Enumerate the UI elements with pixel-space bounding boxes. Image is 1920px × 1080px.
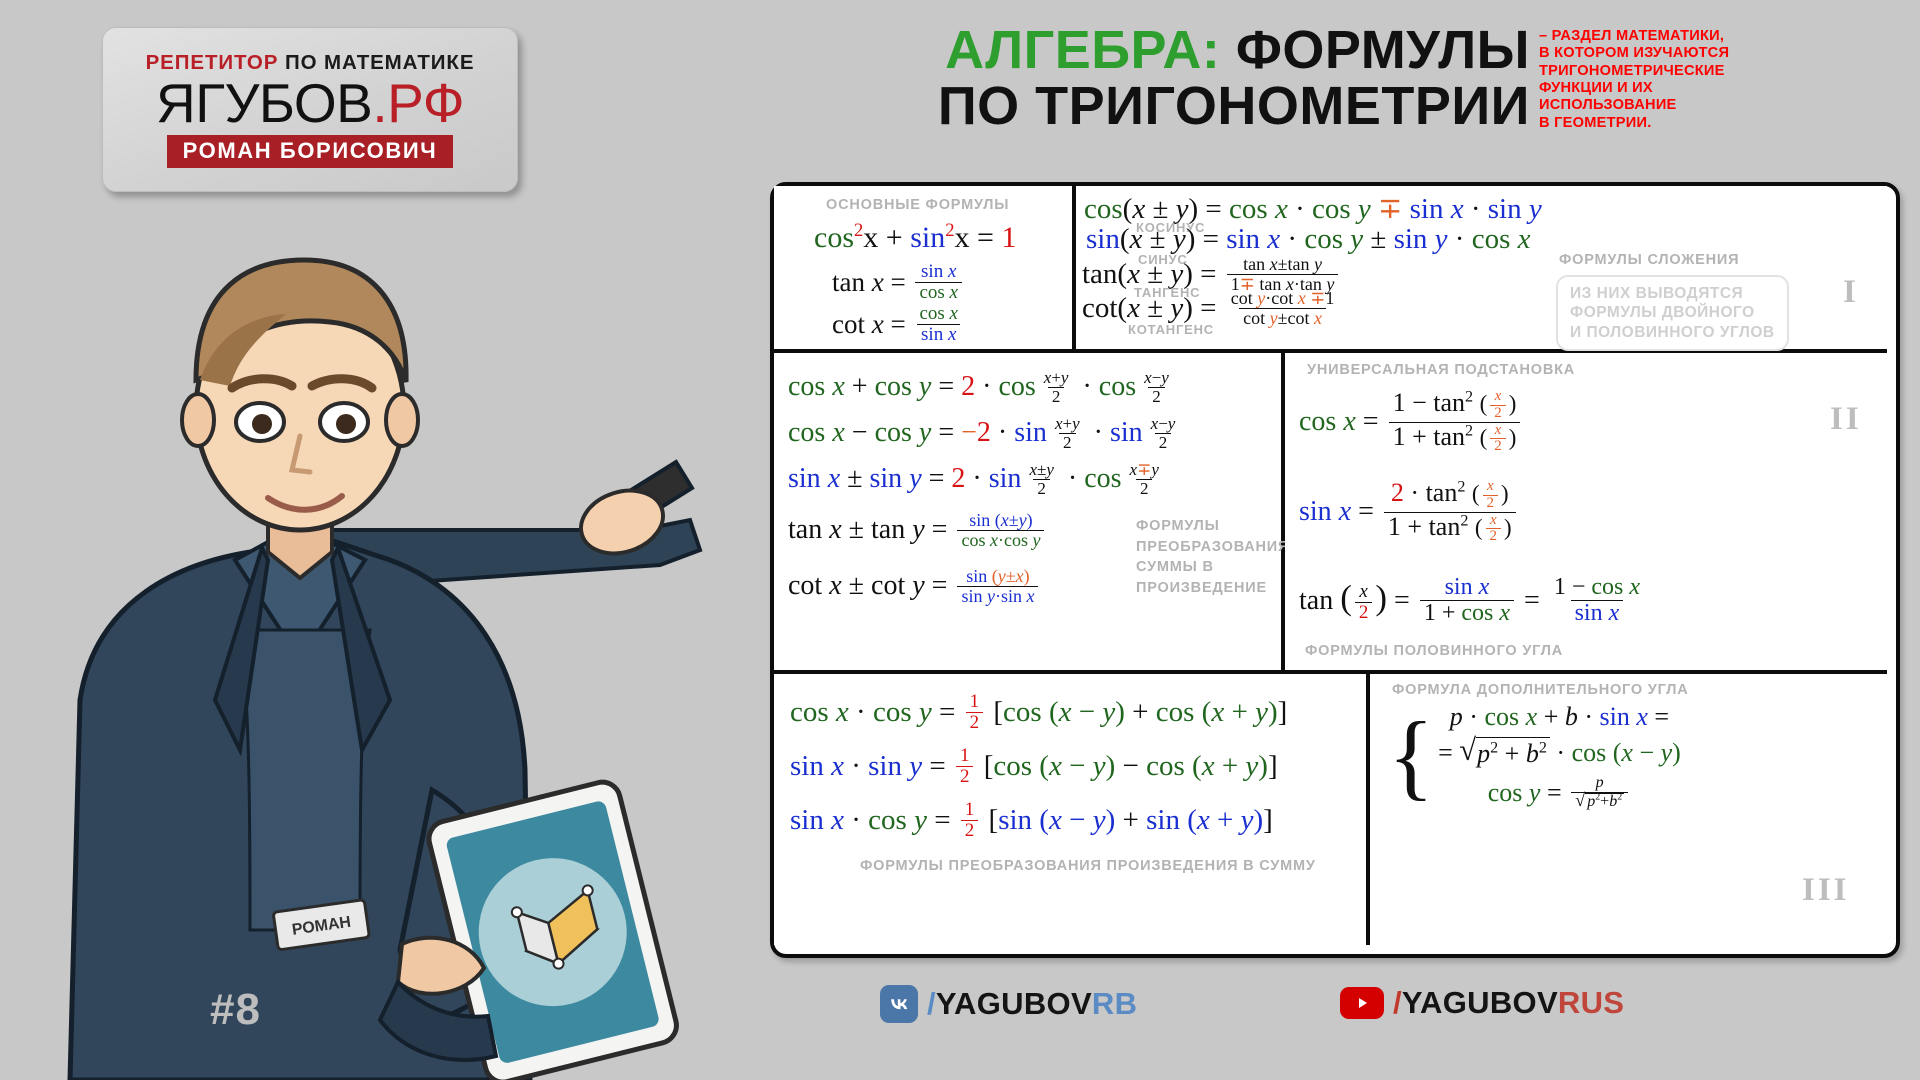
social-slash-vk: / [927, 986, 936, 1021]
social-handle-youtube: /YAGUBOVRUS [1393, 985, 1624, 1021]
logo-person-name: РОМАН БОРИСОВИЧ [167, 135, 454, 168]
social-links: /YAGUBOVRB /YAGUBOVRUS [880, 985, 1710, 1045]
subject-note-line: ФУНКЦИИ И ИХ [1539, 80, 1869, 97]
formula-sin-times-cos: sin x · cos y = 12 [sin (x − y) + sin (x… [790, 800, 1273, 841]
logo-domain-tld: РФ [387, 72, 464, 134]
caption-auxiliary-angle: ФОРМУЛА ДОПОЛНИТЕЛЬНОГО УГЛА [1392, 682, 1689, 698]
formula-tan-pm-tan: tan x ± tan y = sin (x±y) cos x·cos y [788, 511, 1047, 550]
poster-root: РЕПЕТИТОР ПО МАТЕМАТИКЕ ЯГУБОВ.РФ РОМАН … [0, 0, 1920, 1080]
section-numeral-2: II [1830, 401, 1862, 438]
subject-definition-note: – РАЗДЕЛ МАТЕМАТИКИ, В КОТОРОМ ИЗУЧАЮТСЯ… [1539, 28, 1869, 132]
logo-domain: ЯГУБОВ.РФ [156, 77, 464, 131]
logo-domain-name: ЯГУБОВ [156, 72, 372, 134]
formula-cos-plus-cos: cos x + cos y = 2 · cos x+y2 · cos x−y2 [788, 369, 1176, 406]
formula-cotangent-definition: cot x = cos x sin x [832, 304, 965, 345]
page-title-word: ФОРМУЛЫ [1220, 20, 1530, 80]
formula-auxiliary-angle-group: { p · cos x + b · sin x = = √ p2 + b2 · … [1388, 702, 1681, 811]
caption-sum-to-product-line: ФОРМУЛЫ [1136, 516, 1289, 537]
logo-card[interactable]: РЕПЕТИТОР ПО МАТЕМАТИКЕ ЯГУБОВ.РФ РОМАН … [102, 27, 518, 192]
panel-basic-formulas: ОСНОВНЫЕ ФОРМУЛЫ cos2x + sin2x = 1 tan x… [774, 186, 1072, 349]
subject-note-line: ТРИГОНОМЕТРИЧЕСКИЕ [1539, 63, 1869, 80]
label-cotangent: КОТАНГЕНС [1128, 322, 1214, 337]
page-title-line2: ПО ТРИГОНОМЕТРИИ [690, 78, 1530, 134]
caption-addition-formulas: ФОРМУЛЫ СЛОЖЕНИЯ [1559, 252, 1739, 268]
page-title-line1: АЛГЕБРА: ФОРМУЛЫ [690, 22, 1530, 78]
formula-pythagorean: cos2x + sin2x = 1 [814, 221, 1016, 255]
social-slash-youtube: / [1393, 985, 1402, 1020]
page-title: АЛГЕБРА: ФОРМУЛЫ ПО ТРИГОНОМЕТРИИ [690, 22, 1530, 134]
note-derived-formulas: ИЗ НИХ ВЫВОДЯТСЯ ФОРМУЛЫ ДВОЙНОГО И ПОЛО… [1556, 275, 1789, 351]
brace-icon: { [1388, 714, 1434, 798]
panel-sum-to-product: cos x + cos y = 2 · cos x+y2 · cos x−y2 … [774, 353, 1281, 670]
formula-cos-times-cos: cos x · cos y = 12 [cos (x − y) + cos (x… [790, 692, 1287, 733]
subject-note-line: – РАЗДЕЛ МАТЕМАТИКИ, [1539, 28, 1869, 45]
formula-cot-pm-cot: cot x ± cot y = sin (y±x) sin y·sin x [788, 567, 1041, 606]
caption-product-to-sum: ФОРМУЛЫ ПРЕОБРАЗОВАНИЯ ПРОИЗВЕДЕНИЯ В СУ… [860, 858, 1316, 874]
formula-sin-times-sin: sin x · sin y = 12 [cos (x − y) − cos (x… [790, 746, 1278, 787]
formula-cos-minus-cos: cos x − cos y = −2 · sin x+y2 · sin x−y2 [788, 415, 1182, 452]
formula-sin-pm-sin: sin x ± sin y = 2 · sin x±y2 · cos x∓y2 [788, 461, 1166, 498]
panel-auxiliary-angle: ФОРМУЛА ДОПОЛНИТЕЛЬНОГО УГЛА { p · cos x… [1370, 674, 1887, 945]
formula-tan-half-angle: tan (x2) = sin x 1 + cos x = 1 − cos x s… [1299, 575, 1647, 626]
logo-tagline-red: РЕПЕТИТОР [146, 51, 279, 74]
social-name-youtube: YAGUBOV [1402, 985, 1558, 1020]
caption-sum-to-product-line: СУММЫ В [1136, 557, 1289, 578]
panel-addition-formulas: cos(x ± y) = cos x · cos y ∓ sin x · sin… [1076, 186, 1887, 349]
caption-sum-to-product-line: ПРОИЗВЕДЕНИЕ [1136, 578, 1289, 599]
social-tail-vk: RB [1092, 986, 1137, 1021]
social-name-vk: YAGUBOV [936, 986, 1092, 1021]
page-title-subject: АЛГЕБРА: [945, 20, 1220, 80]
formula-aux-line2: = √ p2 + b2 · cos (x − y) [1438, 737, 1681, 769]
youtube-icon [1340, 987, 1384, 1019]
subject-note-line: В ГЕОМЕТРИИ. [1539, 115, 1869, 132]
social-tail-youtube: RUS [1558, 985, 1624, 1020]
teacher-illustration: РОМАН [0, 230, 720, 1080]
note-derived-line: И ПОЛОВИННОГО УГЛОВ [1570, 323, 1775, 342]
formula-sin-universal: sin x = 2 · tan2 (x2) 1 + tan2 (x2) [1299, 479, 1519, 545]
social-handle-vk: /YAGUBOVRB [927, 986, 1137, 1022]
formula-cos-universal: cos x = 1 − tan2 (x2) 1 + tan2 (x2) [1299, 389, 1523, 455]
formula-aux-line3: cos y = p √p2+b2 [1438, 775, 1681, 811]
section-numeral-1: I [1843, 274, 1859, 311]
subject-note-line: В КОТОРОМ ИЗУЧАЮТСЯ [1539, 45, 1869, 62]
panel-product-to-sum: cos x · cos y = 12 [cos (x − y) + cos (x… [774, 674, 1366, 945]
logo-domain-dot: . [372, 72, 387, 134]
caption-sum-to-product: ФОРМУЛЫ ПРЕОБРАЗОВАНИЯ СУММЫ В ПРОИЗВЕДЕ… [1136, 516, 1289, 598]
caption-half-angle-formulas: ФОРМУЛЫ ПОЛОВИННОГО УГЛА [1305, 643, 1563, 659]
logo-tagline-black: ПО МАТЕМАТИКЕ [278, 51, 474, 74]
formula-board: ОСНОВНЫЕ ФОРМУЛЫ cos2x + sin2x = 1 tan x… [770, 182, 1900, 958]
section-numeral-3: III [1802, 872, 1850, 909]
caption-sum-to-product-line: ПРЕОБРАЗОВАНИЯ [1136, 537, 1289, 558]
caption-basic-formulas: ОСНОВНЫЕ ФОРМУЛЫ [826, 197, 1009, 213]
caption-universal-substitution: УНИВЕРСАЛЬНАЯ ПОДСТАНОВКА [1307, 362, 1575, 378]
formula-tangent-definition: tan x = sin x cos x [832, 262, 965, 303]
vk-icon [880, 985, 918, 1023]
note-derived-line: ФОРМУЛЫ ДВОЙНОГО [1570, 303, 1775, 322]
panel-universal-substitution: УНИВЕРСАЛЬНАЯ ПОДСТАНОВКА cos x = 1 − ta… [1285, 353, 1887, 670]
subject-note-line: ИСПОЛЬЗОВАНИЕ [1539, 97, 1869, 114]
formula-aux-line1: p · cos x + b · sin x = [1438, 702, 1681, 732]
social-link-youtube[interactable]: /YAGUBOVRUS [1340, 985, 1624, 1021]
note-derived-line: ИЗ НИХ ВЫВОДЯТСЯ [1570, 284, 1775, 303]
social-link-vk[interactable]: /YAGUBOVRB [880, 985, 1137, 1023]
poster-number-badge: #8 [210, 985, 261, 1035]
